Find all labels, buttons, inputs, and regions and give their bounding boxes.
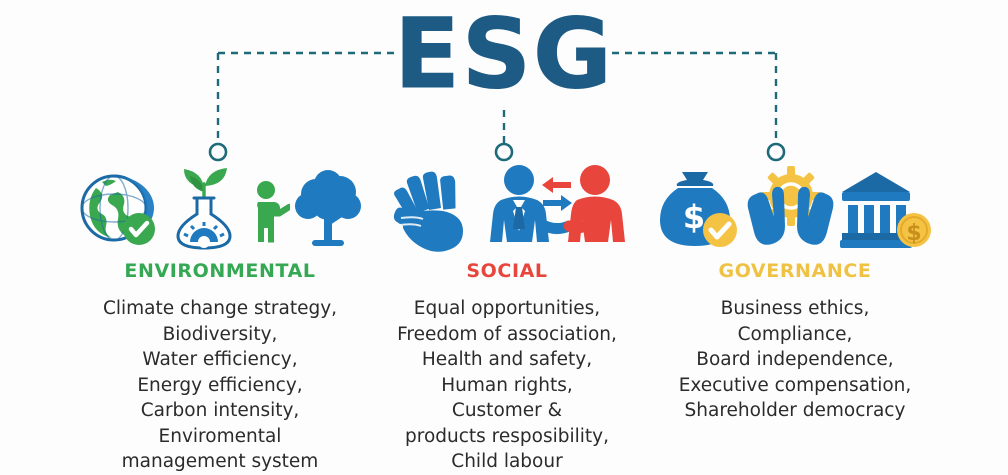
- social-icon-group: [352, 160, 662, 252]
- desc-line: Board independence,: [640, 347, 950, 373]
- svg-text:$: $: [683, 198, 705, 236]
- column-environmental: ENVIRONMENTAL Climate change strategy, B…: [65, 160, 375, 475]
- desc-line: Health and safety,: [352, 347, 662, 373]
- globe-check-icon: [76, 168, 160, 252]
- category-label-social: SOCIAL: [352, 260, 662, 282]
- esg-infographic: ESG: [0, 0, 1008, 462]
- desc-line: Enviromental: [65, 424, 375, 450]
- svg-text:$: $: [906, 221, 921, 246]
- desc-line: Biodiversity,: [65, 322, 375, 348]
- description-social: Equal opportunities, Freedom of associat…: [352, 296, 662, 475]
- desc-line: Customer &: [352, 398, 662, 424]
- environmental-icon-group: [65, 160, 375, 252]
- desc-line: Equal opportunities,: [352, 296, 662, 322]
- category-label-governance: GOVERNANCE: [640, 260, 950, 282]
- desc-line: products resposibility,: [352, 424, 662, 450]
- desc-line: Human rights,: [352, 373, 662, 399]
- bank-coin-icon: $: [840, 168, 932, 252]
- column-governance: $: [640, 160, 950, 424]
- connector-node-environmental: [210, 144, 226, 160]
- page-title: ESG: [0, 2, 1008, 106]
- description-governance: Business ethics, Compliance, Board indep…: [640, 296, 950, 424]
- desc-line: Water efficiency,: [65, 347, 375, 373]
- desc-line: Executive compensation,: [640, 373, 950, 399]
- open-hand-icon: [389, 168, 481, 252]
- connector-node-social: [496, 144, 512, 160]
- desc-line: Compliance,: [640, 322, 950, 348]
- governance-icon-group: $: [640, 160, 950, 252]
- two-people-exchange-icon: [485, 162, 625, 252]
- column-social: SOCIAL Equal opportunities, Freedom of a…: [352, 160, 662, 475]
- person-icon: [248, 176, 290, 252]
- category-label-environmental: ENVIRONMENTAL: [65, 260, 375, 282]
- desc-line: Business ethics,: [640, 296, 950, 322]
- desc-line: Freedom of association,: [352, 322, 662, 348]
- money-bag-check-icon: $: [658, 166, 742, 252]
- description-environmental: Climate change strategy, Biodiversity, W…: [65, 296, 375, 475]
- desc-line: Carbon intensity,: [65, 398, 375, 424]
- desc-line: Energy efficiency,: [65, 373, 375, 399]
- hands-gear-icon: [746, 164, 836, 252]
- desc-line: Shareholder democracy: [640, 398, 950, 424]
- flask-plant-icon: [164, 162, 244, 252]
- connector-node-governance: [768, 144, 784, 160]
- desc-line: Climate change strategy,: [65, 296, 375, 322]
